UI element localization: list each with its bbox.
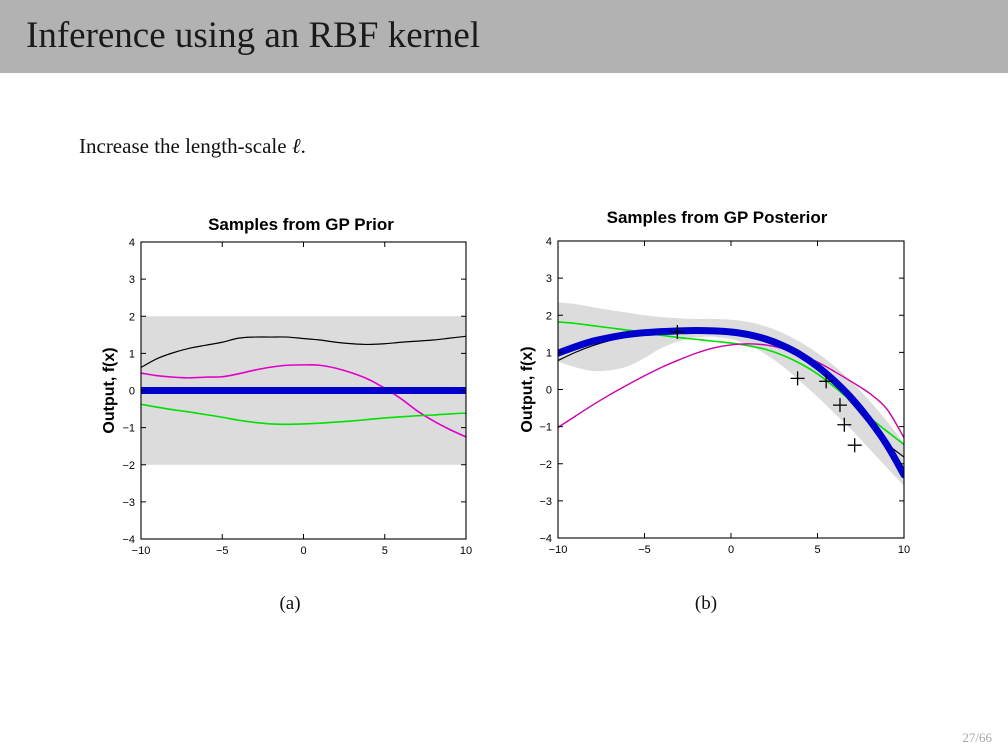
- y-axis-label: Output, f(x): [519, 346, 536, 432]
- y-tick-label: −3: [122, 497, 135, 509]
- y-tick-label: 3: [129, 274, 135, 286]
- y-tick-label: 4: [546, 236, 552, 248]
- y-tick-label: 2: [129, 311, 135, 323]
- chart-gp-posterior: −10−50510−4−3−2−101234Input, xOutput, f(…: [512, 200, 922, 560]
- length-scale-symbol: ℓ: [292, 134, 301, 158]
- x-tick-label: −5: [216, 545, 229, 557]
- figure-gp-prior: Samples from GP Prior −10−50510−4−3−2−10…: [96, 205, 506, 625]
- page-number: 27/66: [962, 730, 992, 746]
- body-text-prefix: Increase the length-scale: [79, 134, 292, 158]
- x-tick-label: 0: [300, 545, 306, 557]
- slide-title-bar: Inference using an RBF kernel: [0, 0, 1008, 73]
- y-tick-label: −2: [122, 460, 135, 472]
- slide-body-text: Increase the length-scale ℓ.: [79, 134, 306, 159]
- x-tick-label: 10: [898, 544, 910, 556]
- y-tick-label: 2: [546, 310, 552, 322]
- x-tick-label: −10: [549, 544, 568, 556]
- subfigure-caption-b: (b): [686, 593, 726, 615]
- data-point-marker: [848, 438, 862, 452]
- y-tick-label: −4: [122, 534, 135, 546]
- figure-gp-posterior: Samples from GP Posterior −10−50510−4−3−…: [512, 200, 922, 620]
- subfigure-caption-a: (a): [270, 593, 310, 615]
- x-tick-label: 10: [460, 545, 472, 557]
- y-axis-label: Output, f(x): [101, 347, 118, 433]
- page-title: Inference using an RBF kernel: [26, 14, 480, 58]
- y-tick-label: 1: [129, 348, 135, 360]
- x-tick-label: 5: [814, 544, 820, 556]
- y-tick-label: 1: [546, 347, 552, 359]
- y-tick-label: 0: [546, 385, 552, 397]
- x-tick-label: 5: [382, 545, 388, 557]
- y-tick-label: −4: [539, 533, 552, 545]
- y-tick-label: −2: [539, 459, 552, 471]
- body-text-suffix: .: [301, 134, 306, 158]
- y-tick-label: 3: [546, 273, 552, 285]
- y-tick-label: −1: [539, 422, 552, 434]
- y-tick-label: 4: [129, 237, 135, 249]
- x-tick-label: 0: [728, 544, 734, 556]
- y-tick-label: −3: [539, 496, 552, 508]
- x-axis-label: Input, x: [275, 564, 332, 565]
- x-tick-label: −10: [132, 545, 151, 557]
- chart-gp-prior: −10−50510−4−3−2−101234Input, xOutput, f(…: [96, 205, 506, 565]
- y-tick-label: −1: [122, 423, 135, 435]
- y-tick-label: 0: [129, 386, 135, 398]
- x-tick-label: −5: [638, 544, 651, 556]
